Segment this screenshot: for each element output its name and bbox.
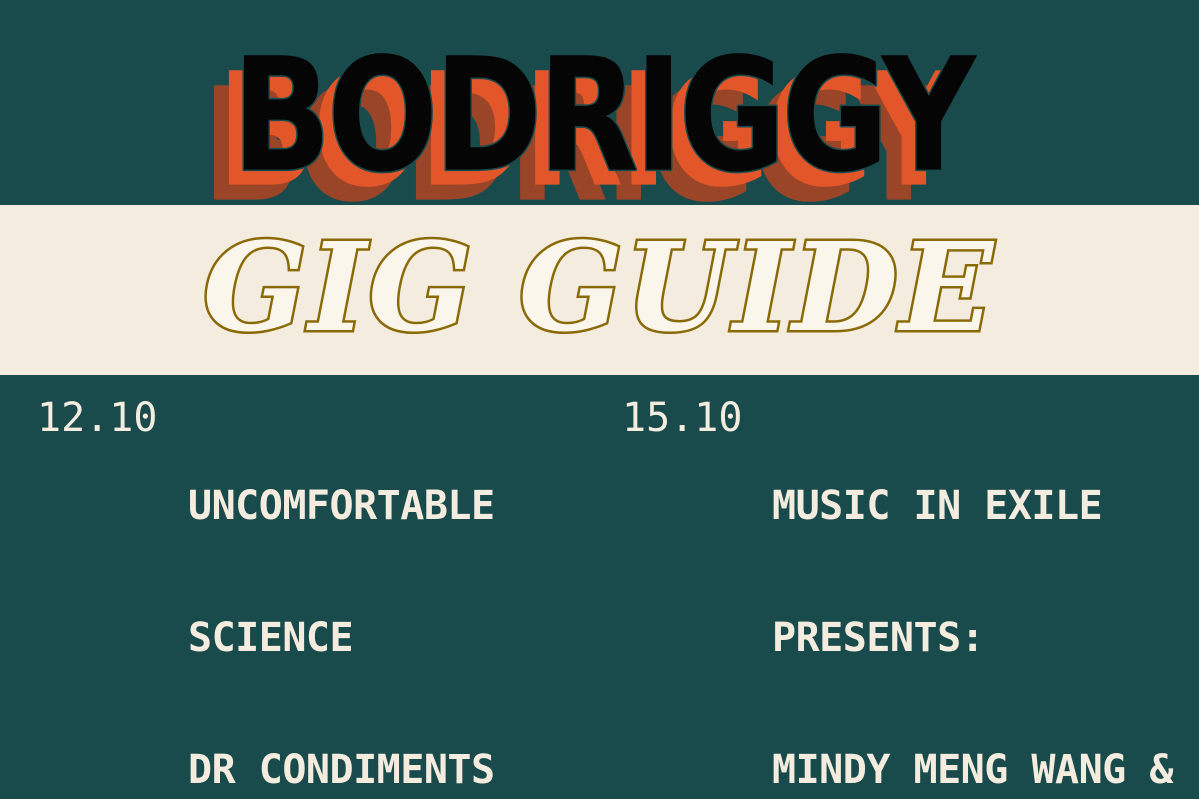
header-band: BODRIGGY BODRIGGY BODRIGGY [0,0,1199,205]
listing-date: 15.10 [622,396,742,440]
listings-right-column: 15.10 MUSIC IN EXILE PRESENTS: MINDY MEN… [622,375,1187,799]
bodriggy-logo-svg: BODRIGGY BODRIGGY BODRIGGY [0,0,1199,205]
act-line: SCIENCE [188,616,597,660]
act-line: DR CONDIMENTS [188,748,597,792]
gig-guide-title: GIG GUIDE [203,215,995,359]
listing-entry: 12.10 UNCOMFORTABLE SCIENCE DR CONDIMENT… [37,396,597,799]
listing-acts: UNCOMFORTABLE SCIENCE DR CONDIMENTS [188,396,597,799]
gig-guide-title-svg: GIG GUIDE [0,205,1199,375]
gig-guide-poster: BODRIGGY BODRIGGY BODRIGGY GIG GUIDE [0,0,1199,799]
listing-date: 12.10 [37,396,157,440]
act-line: UNCOMFORTABLE [188,484,597,528]
listings-left-column: 12.10 UNCOMFORTABLE SCIENCE DR CONDIMENT… [37,375,597,799]
act-line: MINDY MENG WANG & [772,748,1187,792]
listing-acts: MUSIC IN EXILE PRESENTS: MINDY MENG WANG… [772,396,1187,799]
listing-entry: 15.10 MUSIC IN EXILE PRESENTS: MINDY MEN… [622,396,1187,799]
act-line: MUSIC IN EXILE [772,484,1187,528]
logo-face-text: BODRIGGY [232,24,977,205]
logo-letters: BODRIGGY BODRIGGY BODRIGGY [202,24,977,205]
bodriggy-logo: BODRIGGY BODRIGGY BODRIGGY [0,0,1199,205]
gig-guide-band: GIG GUIDE [0,205,1199,375]
listings-section: 12.10 UNCOMFORTABLE SCIENCE DR CONDIMENT… [0,375,1199,799]
act-line: PRESENTS: [772,616,1187,660]
